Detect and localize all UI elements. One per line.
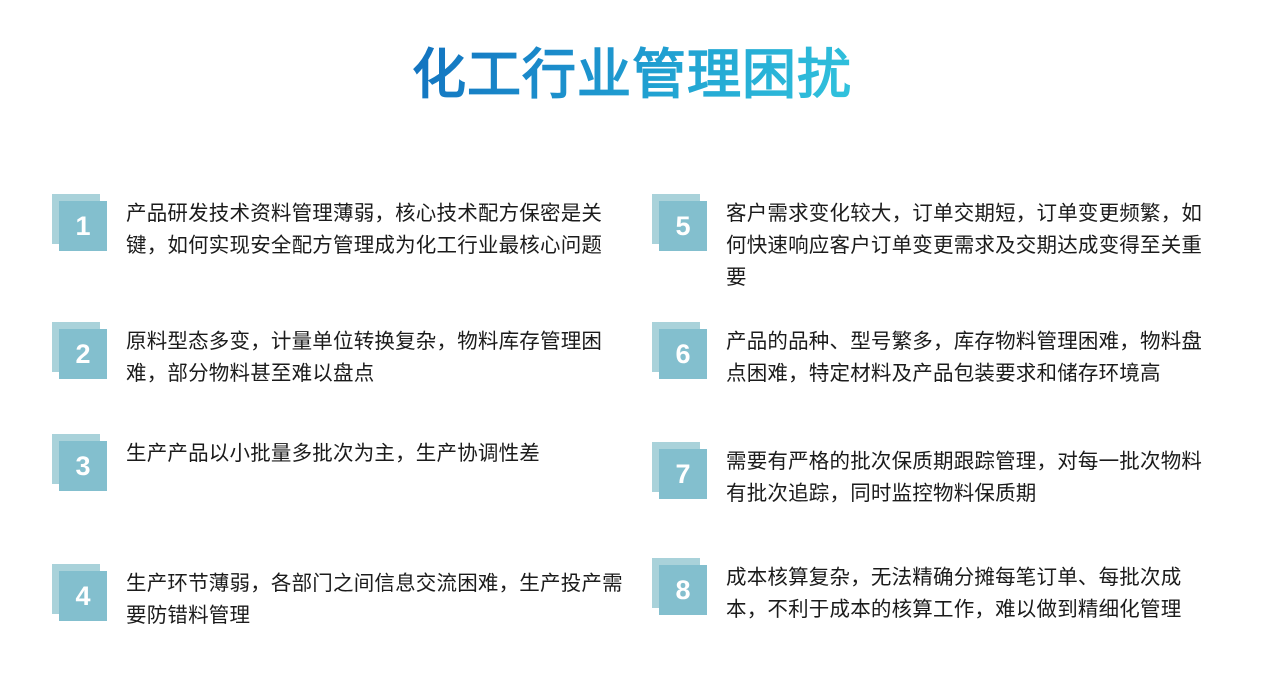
badge-number: 2	[59, 329, 107, 379]
number-badge: 8	[652, 558, 708, 616]
list-item[interactable]: 7 需要有严格的批次保质期跟踪管理，对每一批次物料有批次追踪，同时监控物料保质期	[652, 442, 1221, 510]
title-container: 化工行业管理困扰	[0, 44, 1264, 106]
number-badge: 1	[52, 194, 108, 252]
list-item-text: 生产环节薄弱，各部门之间信息交流困难，生产投产需要防错料管理	[126, 564, 626, 632]
list-item-text: 客户需求变化较大，订单交期短，订单变更频繁，如何快速响应客户订单变更需求及交期达…	[726, 194, 1221, 294]
number-badge: 4	[52, 564, 108, 622]
list-item-text: 成本核算复杂，无法精确分摊每笔订单、每批次成本，不利于成本的核算工作，难以做到精…	[726, 558, 1221, 626]
number-badge: 6	[652, 322, 708, 380]
badge-number: 5	[659, 201, 707, 251]
badge-number: 4	[59, 571, 107, 621]
list-item-text: 产品研发技术资料管理薄弱，核心技术配方保密是关键，如何实现安全配方管理成为化工行…	[126, 194, 626, 262]
list-item[interactable]: 2 原料型态多变，计量单位转换复杂，物料库存管理困难，部分物料甚至难以盘点	[52, 322, 626, 390]
badge-number: 3	[59, 441, 107, 491]
list-item[interactable]: 3 生产产品以小批量多批次为主，生产协调性差	[52, 434, 626, 492]
page-title: 化工行业管理困扰	[412, 44, 852, 106]
number-badge: 5	[652, 194, 708, 252]
number-badge: 2	[52, 322, 108, 380]
badge-number: 8	[659, 565, 707, 615]
badge-number: 6	[659, 329, 707, 379]
list-item-text: 生产产品以小批量多批次为主，生产协调性差	[126, 434, 626, 470]
list-item[interactable]: 4 生产环节薄弱，各部门之间信息交流困难，生产投产需要防错料管理	[52, 564, 626, 632]
slide-root: 化工行业管理困扰 1 产品研发技术资料管理薄弱，核心技术配方保密是关键，如何实现…	[0, 0, 1264, 687]
list-item[interactable]: 1 产品研发技术资料管理薄弱，核心技术配方保密是关键，如何实现安全配方管理成为化…	[52, 194, 626, 262]
list-item-text: 产品的品种、型号繁多，库存物料管理困难，物料盘点困难，特定材料及产品包装要求和储…	[726, 322, 1221, 390]
list-item[interactable]: 8 成本核算复杂，无法精确分摊每笔订单、每批次成本，不利于成本的核算工作，难以做…	[652, 558, 1221, 626]
badge-number: 7	[659, 449, 707, 499]
list-item-text: 原料型态多变，计量单位转换复杂，物料库存管理困难，部分物料甚至难以盘点	[126, 322, 626, 390]
badge-number: 1	[59, 201, 107, 251]
number-badge: 7	[652, 442, 708, 500]
list-item[interactable]: 5 客户需求变化较大，订单交期短，订单变更频繁，如何快速响应客户订单变更需求及交…	[652, 194, 1221, 294]
content-columns: 1 产品研发技术资料管理薄弱，核心技术配方保密是关键，如何实现安全配方管理成为化…	[0, 180, 1264, 680]
number-badge: 3	[52, 434, 108, 492]
list-item-text: 需要有严格的批次保质期跟踪管理，对每一批次物料有批次追踪，同时监控物料保质期	[726, 442, 1221, 510]
list-item[interactable]: 6 产品的品种、型号繁多，库存物料管理困难，物料盘点困难，特定材料及产品包装要求…	[652, 322, 1221, 390]
